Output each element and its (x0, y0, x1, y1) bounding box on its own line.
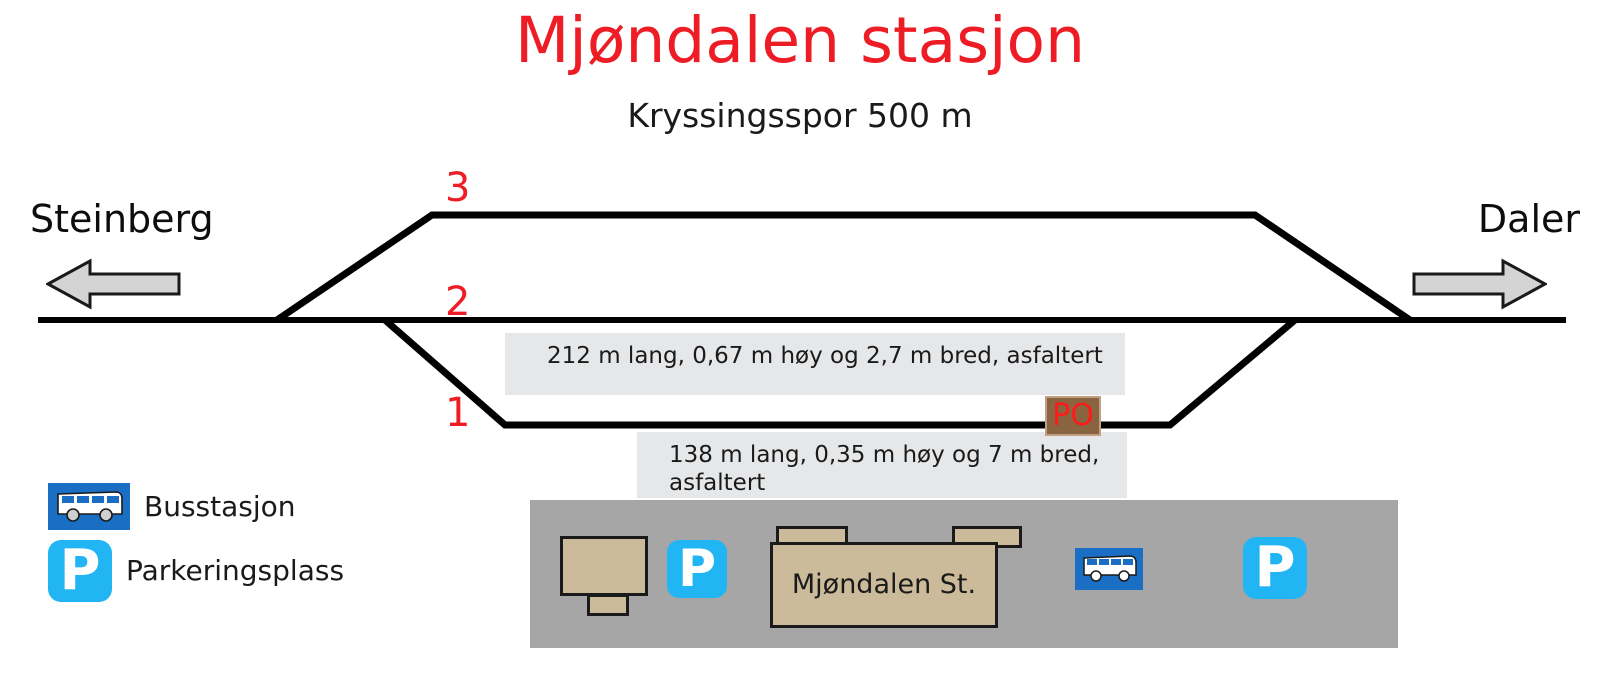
station-building-label: Mjøndalen St. (770, 542, 998, 628)
station-building: Mjøndalen St. (770, 526, 998, 612)
platform-description-upper: 212 m lang, 0,67 m høy og 2,7 m bred, as… (505, 333, 1125, 395)
bus-station-icon (48, 483, 130, 530)
plaza-parking-icon-left: P (667, 540, 727, 598)
plaza-bus-station-icon (1075, 548, 1143, 590)
legend-item-bus-station: Busstasjon (48, 483, 296, 530)
po-marker: PO (1045, 396, 1101, 436)
track-number-3: 3 (445, 166, 470, 210)
small-building (560, 536, 648, 596)
parking-icon: P (48, 540, 112, 602)
track-number-1: 1 (445, 391, 470, 435)
platform-description-lower: 138 m lang, 0,35 m høy og 7 m bred, asfa… (637, 432, 1127, 498)
small-building-annex (587, 594, 629, 616)
legend-label-parking: Parkeringsplass (126, 554, 344, 588)
legend-label-bus-station: Busstasjon (144, 490, 296, 524)
station-plaza-area: P Mjøndalen St. P (530, 500, 1398, 648)
track-number-2: 2 (445, 280, 470, 324)
station-diagram: Mjøndalen stasjon Kryssingsspor 500 m St… (0, 0, 1600, 679)
legend-item-parking: P Parkeringsplass (48, 540, 344, 602)
plaza-parking-icon-right: P (1243, 537, 1307, 599)
